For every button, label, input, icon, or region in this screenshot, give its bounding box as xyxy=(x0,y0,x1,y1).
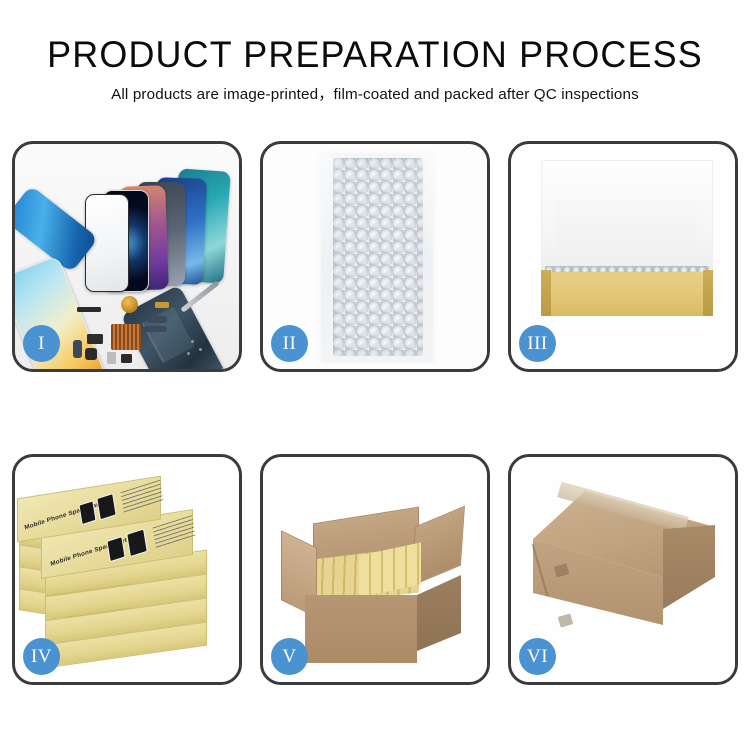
vibration-motor-part xyxy=(121,296,138,313)
sim-tray-part xyxy=(73,340,82,358)
page-title: PRODUCT PREPARATION PROCESS xyxy=(11,34,739,76)
box-lid-inner-panel xyxy=(555,200,697,274)
copper-mesh-part xyxy=(111,324,141,350)
process-step-3[interactable]: III xyxy=(508,141,738,372)
step-4-badge: IV xyxy=(23,638,60,675)
step-5-badge: V xyxy=(271,638,308,675)
box-art-phone-3 xyxy=(106,536,125,562)
carton-front-face xyxy=(305,595,417,663)
flex-cable-part-1 xyxy=(77,307,101,312)
box-art-phone-4 xyxy=(126,528,148,557)
tray-right-wall xyxy=(703,270,713,316)
bubble-wrap-texture xyxy=(333,158,423,356)
box-art-phone-1 xyxy=(78,500,96,525)
step-3-badge: III xyxy=(519,325,556,362)
step-2-badge: II xyxy=(271,325,308,362)
screw-1 xyxy=(191,340,194,343)
flex-cable-part-3 xyxy=(143,326,167,332)
screw-2 xyxy=(199,348,202,351)
gold-connector-part xyxy=(155,302,169,308)
speaker-part xyxy=(87,334,103,344)
screw-3 xyxy=(187,352,190,355)
camera-module-part xyxy=(85,348,97,360)
tray-left-wall xyxy=(541,270,551,316)
small-chip-part xyxy=(121,354,132,363)
page-subtitle: All products are image-printed，film-coat… xyxy=(0,85,750,105)
box-spec-lines-1 xyxy=(121,480,164,514)
page-header: PRODUCT PREPARATION PROCESS All products… xyxy=(0,0,750,105)
process-step-6[interactable]: VI xyxy=(508,454,738,685)
flex-cable-part-2 xyxy=(147,316,167,323)
process-step-4[interactable]: Mobile Phone Spare Parts Mobile Phone Sp… xyxy=(12,454,242,685)
process-step-5[interactable]: V xyxy=(260,454,490,685)
step-1-badge: I xyxy=(23,325,60,362)
process-step-grid: I II III xyxy=(12,141,738,685)
process-step-2[interactable]: II xyxy=(260,141,490,372)
box-art-phone-2 xyxy=(96,493,116,520)
kraft-box-tray xyxy=(541,272,713,316)
metal-bracket-part xyxy=(107,352,116,364)
box-spec-lines-2 xyxy=(153,515,196,549)
process-step-1[interactable]: I xyxy=(12,141,242,372)
step-6-badge: VI xyxy=(519,638,556,675)
